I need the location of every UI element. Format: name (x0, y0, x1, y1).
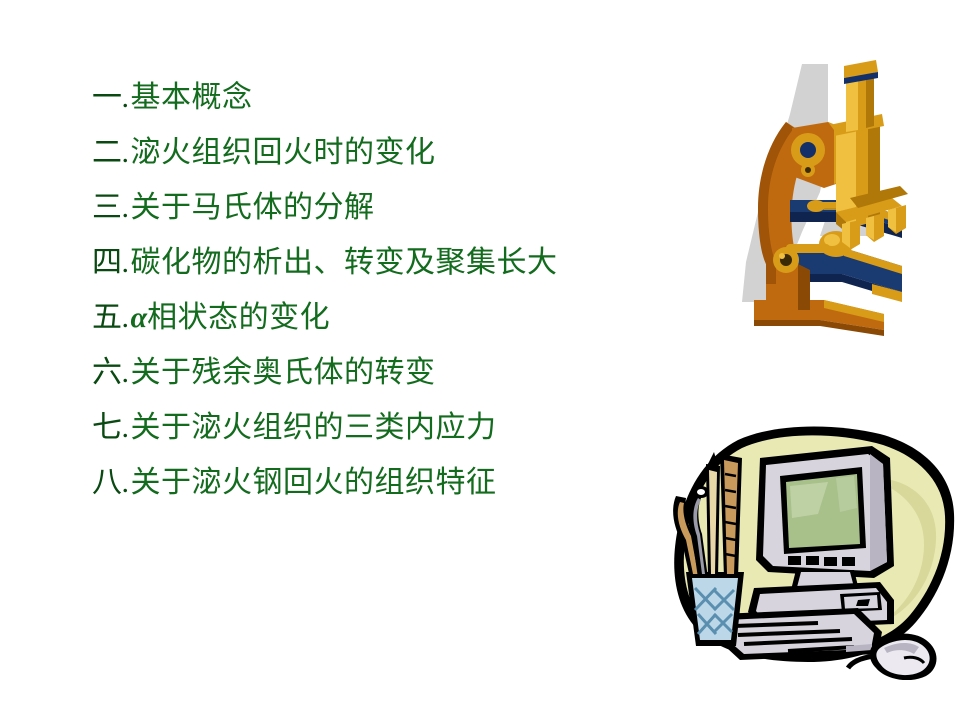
list-item-label: α相状态的变化 (131, 292, 331, 336)
list-item: 七. 关于淧火组织的三类内应力 (92, 402, 652, 457)
list-item-label: 碳化物的析出、转变及聚集长大 (131, 237, 558, 281)
desktop-computer-icon (668, 418, 960, 680)
list-item: 一. 基本概念 (92, 72, 652, 127)
list-item-label: 基本概念 (131, 72, 253, 116)
computer-monitor (756, 446, 894, 594)
list-item: 二. 淧火组织回火时的变化 (92, 127, 652, 182)
list-item: 六. 关于残余奥氏体的转变 (92, 347, 652, 402)
slide-canvas: 一. 基本概念 二. 淧火组织回火时的变化 三. 关于马氏体的分解 四. 碳化物… (0, 0, 960, 720)
list-item: 四. 碳化物的析出、转变及聚集长大 (92, 237, 652, 292)
pencil-cup (673, 452, 744, 646)
list-item-label: 关于马氏体的分解 (131, 182, 375, 226)
microscope-icon (724, 52, 952, 340)
list-item-marker: 七. (92, 402, 131, 446)
list-item-marker: 五. (92, 292, 131, 336)
list-item-label: 淧火组织回火时的变化 (131, 127, 436, 171)
list-item-marker: 一. (92, 72, 131, 116)
list-item-marker: 六. (92, 347, 131, 391)
list-item-label-rest: 相状态的变化 (147, 301, 330, 334)
list-item: 五. α相状态的变化 (92, 292, 652, 347)
list-item-marker: 八. (92, 457, 131, 501)
list-item-label: 关于淧火钢回火的组织特征 (131, 457, 497, 501)
list-item-label: 关于淧火组织的三类内应力 (131, 402, 497, 446)
microscope-eyepiece (844, 60, 878, 132)
list-item-marker: 三. (92, 182, 131, 226)
alpha-symbol: α (131, 301, 148, 334)
outline-list: 一. 基本概念 二. 淧火组织回火时的变化 三. 关于马氏体的分解 四. 碳化物… (92, 72, 652, 512)
list-item-marker: 四. (92, 237, 131, 281)
list-item: 三. 关于马氏体的分解 (92, 182, 652, 237)
list-item-marker: 二. (92, 127, 131, 171)
list-item: 八. 关于淧火钢回火的组织特征 (92, 457, 652, 512)
list-item-label: 关于残余奥氏体的转变 (131, 347, 436, 391)
